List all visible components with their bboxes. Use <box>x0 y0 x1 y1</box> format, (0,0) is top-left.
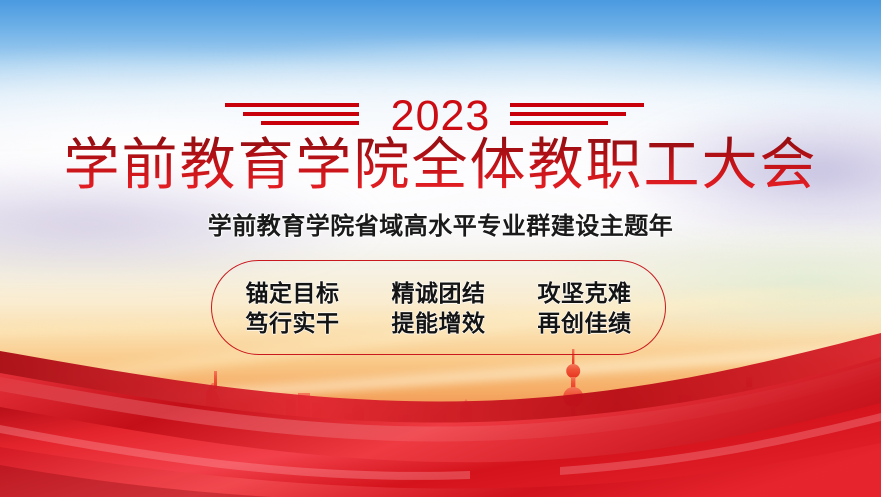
slogan-item: 精诚团结 <box>366 278 512 308</box>
slogan-item: 攻坚克难 <box>512 278 658 308</box>
triple-line-rule-icon <box>225 99 371 133</box>
slogan-row-1: 锚定目标 精诚团结 攻坚克难 <box>220 278 658 308</box>
slogan-item: 再创佳绩 <box>512 308 658 338</box>
conference-poster: 2023 学前教育学院全体教职工大会 学前教育学院省域高水平专业群建设主题年 锚… <box>0 0 881 497</box>
page-subtitle: 学前教育学院省域高水平专业群建设主题年 <box>0 211 881 243</box>
page-title: 学前教育学院全体教职工大会 <box>0 133 881 199</box>
poster-content: 2023 学前教育学院全体教职工大会 学前教育学院省域高水平专业群建设主题年 锚… <box>0 0 881 497</box>
triple-line-rule-icon <box>510 99 656 133</box>
slogan-item: 提能增效 <box>366 308 512 338</box>
slogan-row-2: 笃行实干 提能增效 再创佳绩 <box>220 308 658 338</box>
year-label: 2023 <box>391 95 491 138</box>
slogan-pill: 锚定目标 精诚团结 攻坚克难 笃行实干 提能增效 再创佳绩 <box>211 260 666 355</box>
slogan-item: 笃行实干 <box>220 308 366 338</box>
slogan-item: 锚定目标 <box>220 278 366 308</box>
